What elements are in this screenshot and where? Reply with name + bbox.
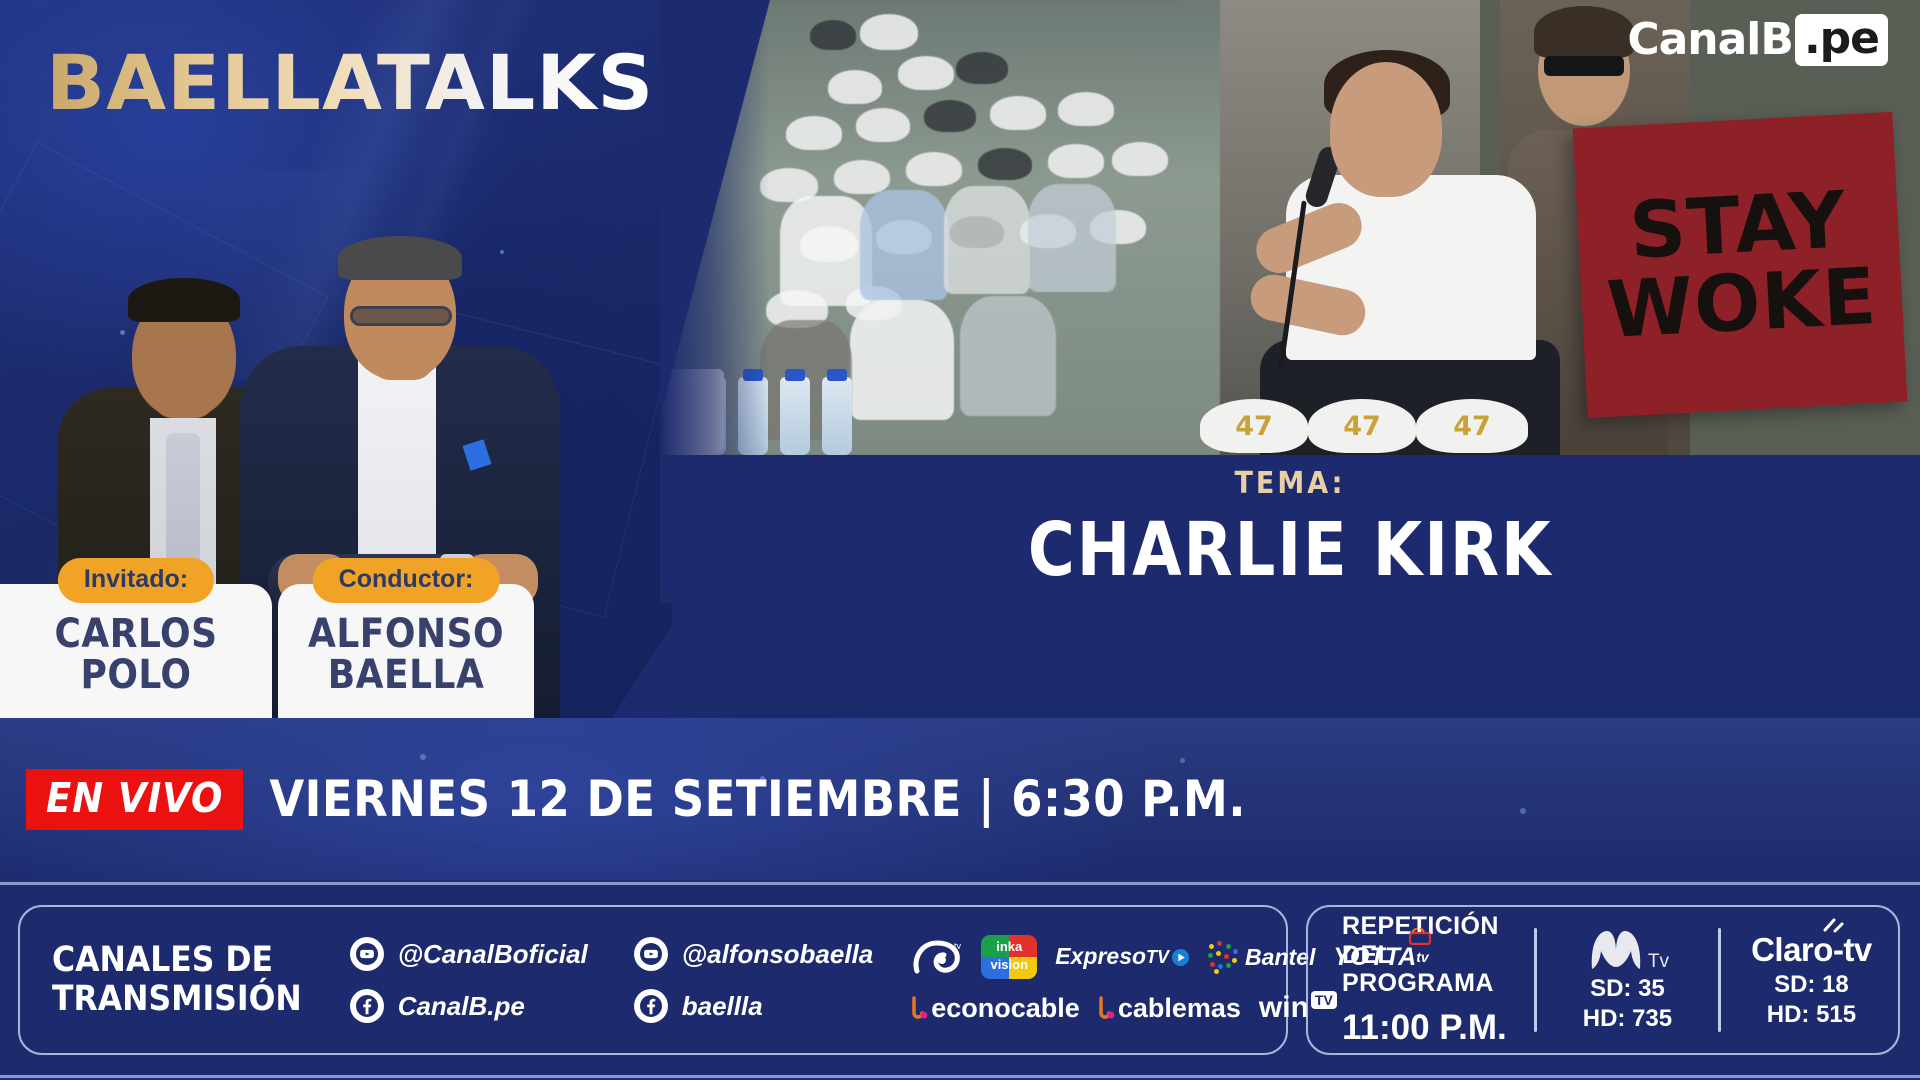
win-text: win — [1259, 991, 1309, 1025]
svg-text:tv: tv — [954, 941, 962, 951]
live-badge: EN VIVO — [26, 769, 243, 830]
yotta-tv-logo: YOTTAtv — [1333, 943, 1428, 972]
broadcast-channels-box: CANALES DE TRANSMISIÓN @CanalBoficial — [18, 905, 1288, 1055]
topic-label: TEMA: — [1235, 466, 1346, 501]
topic-block: TEMA: CHARLIE KIRK — [660, 455, 1920, 603]
cap-47: 47 — [1416, 399, 1528, 453]
footer-divider-bottom — [0, 1075, 1920, 1078]
brand-tld: .pe — [1795, 14, 1888, 66]
protest-sign: STAY WOKE — [1573, 112, 1908, 418]
facebook-icon — [634, 989, 668, 1023]
handle-text: @alfonsobaella — [682, 939, 874, 970]
movistar-sd: SD: 35 — [1590, 975, 1665, 1003]
youtube-icon — [350, 937, 384, 971]
channels-title-line2: TRANSMISIÓN — [52, 980, 302, 1019]
handle-facebook-canalb[interactable]: CanalB.pe — [350, 989, 588, 1023]
guest-role-chip: Invitado: — [58, 558, 214, 603]
handle-text: baellla — [682, 991, 763, 1022]
handle-text: @CanalBoficial — [398, 939, 588, 970]
topic-title: CHARLIE KIRK — [1028, 507, 1553, 593]
handle-youtube-canalb[interactable]: @CanalBoficial — [350, 937, 588, 971]
claro-logo: Claro-tv — [1751, 931, 1872, 969]
canalb-logo: CanalB .pe — [1627, 14, 1888, 66]
handle-text: CanalB.pe — [398, 991, 525, 1022]
movistar-hd: HD: 735 — [1583, 1005, 1672, 1033]
facebook-icon — [350, 989, 384, 1023]
schedule-bar: EN VIVO VIERNES 12 DE SETIEMBRE | 6:30 P… — [0, 718, 1920, 880]
spiral-tv-logo-icon: tv — [911, 937, 963, 977]
footer-bar: CANALES DE TRANSMISIÓN @CanalBoficial — [0, 880, 1920, 1080]
bantel-logo: Bantel — [1207, 940, 1315, 974]
speaker-name-cards: Invitado: CARLOS POLO Conductor: ALFONSO… — [0, 584, 534, 718]
replay-and-operators-box: REPETICIÓN DEL PROGRAMA 11:00 P.M. Tv SD… — [1306, 905, 1900, 1055]
expreso-line2: TV — [1146, 949, 1169, 966]
photo-background: STAY WOKE 47 47 47 — [660, 0, 1920, 455]
expreso-tv-logo: Expreso TV — [1055, 946, 1189, 967]
inka-line2: vision — [981, 958, 1037, 979]
cablemas-text: cablemas — [1118, 993, 1241, 1024]
guest-name-card: Invitado: CARLOS POLO — [0, 584, 272, 718]
econocable-logo: econocable — [911, 993, 1080, 1024]
show-title: BAELLATALKS — [46, 38, 654, 127]
replay-time: 11:00 P.M. — [1342, 1008, 1520, 1048]
movistar-logo-icon — [1586, 927, 1646, 973]
handle-youtube-baella[interactable]: @alfonsobaella — [634, 937, 874, 971]
host-role-chip: Conductor: — [313, 558, 500, 603]
operator-claro: Claro-tv SD: 18 HD: 515 — [1735, 931, 1888, 1029]
cablemas-mark-icon — [1098, 995, 1115, 1022]
cablemas-logo: cablemas — [1098, 993, 1241, 1024]
guest-first-name: CARLOS — [30, 614, 242, 655]
social-handles: @CanalBoficial CanalB.pe @alfons — [350, 937, 874, 1023]
photo-speaker — [1220, 50, 1600, 455]
bantel-dots-icon — [1207, 940, 1241, 974]
cap-47: 47 — [1200, 399, 1308, 453]
guest-last-name: POLO — [30, 655, 242, 696]
operator-movistar: Tv SD: 35 HD: 735 — [1551, 927, 1704, 1033]
sign-line-2: WOKE — [1605, 260, 1879, 348]
left-branding-panel: BAELLATALKS — [0, 0, 672, 718]
host-first-name: ALFONSO — [308, 614, 504, 655]
handle-facebook-baella[interactable]: baellla — [634, 989, 874, 1023]
broadcast-datetime: VIERNES 12 DE SETIEMBRE | 6:30 P.M. — [269, 770, 1246, 828]
claro-sd: SD: 18 — [1774, 971, 1849, 999]
youtube-icon — [634, 937, 668, 971]
econocable-text: econocable — [931, 993, 1080, 1024]
poster-canvas: BAELLATALKS — [0, 0, 1920, 1080]
cap-47: 47 — [1308, 399, 1416, 453]
yotta-sup: tv — [1416, 949, 1428, 965]
host-last-name: BAELLA — [308, 655, 504, 696]
yotta-text: YOTTA — [1333, 943, 1416, 972]
channels-title: CANALES DE TRANSMISIÓN — [38, 941, 302, 1019]
expreso-line1: Expreso — [1055, 946, 1146, 967]
host-name-card: Conductor: ALFONSO BAELLA — [278, 584, 534, 718]
operator-divider — [1718, 928, 1721, 1032]
channels-title-line1: CANALES DE — [52, 941, 302, 980]
speaker-head — [1330, 62, 1442, 197]
footer-divider-top — [0, 882, 1920, 885]
econocable-mark-icon — [911, 995, 928, 1022]
movistar-sub: Tv — [1648, 951, 1669, 973]
operator-divider — [1534, 928, 1537, 1032]
inka-vision-logo: inka vision — [981, 935, 1037, 979]
bantel-text: Bantel — [1245, 944, 1315, 971]
social-column-baella: @alfonsobaella baellla — [634, 937, 874, 1023]
brand-name: CanalB — [1627, 18, 1793, 62]
topic-photo: STAY WOKE 47 47 47 — [660, 0, 1920, 455]
social-column-canalb: @CanalBoficial CanalB.pe — [350, 937, 588, 1023]
claro-hd: HD: 515 — [1767, 1001, 1856, 1029]
